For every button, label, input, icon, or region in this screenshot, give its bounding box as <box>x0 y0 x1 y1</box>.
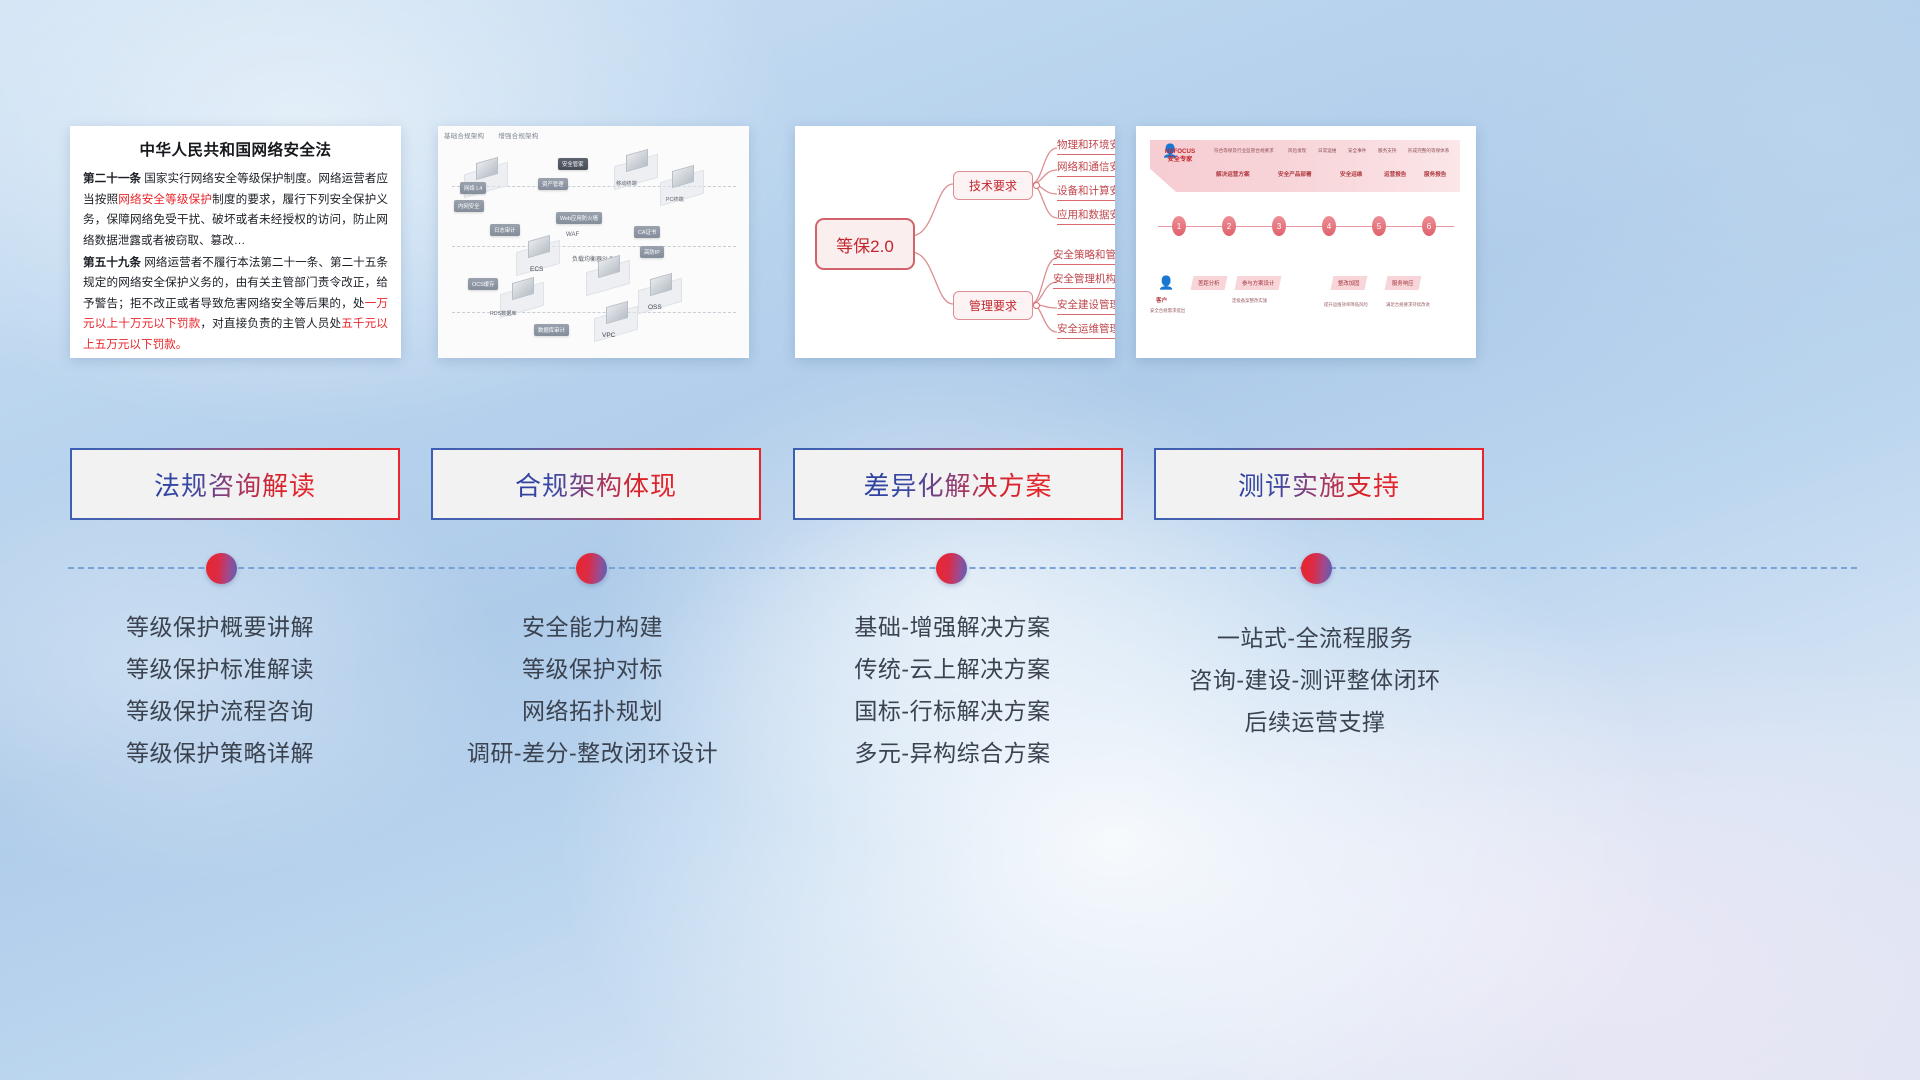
list-item: 多元-异构综合方案 <box>800 733 1105 775</box>
architecture-tab-basic: 基础合规架构 <box>444 133 484 140</box>
list-item: 基础-增强解决方案 <box>800 607 1105 649</box>
nsfocus-tag-3: 服务响应 <box>1385 276 1422 290</box>
nsfocus-logo: NSFOCUS 安全专家 <box>1156 148 1204 165</box>
law-document: 中华人民共和国网络安全法 第二十一条 国家实行网络安全等级保护制度。网络运营者应… <box>70 126 401 358</box>
mindmap-leaf-t2: 网络和通信安全 <box>1057 160 1115 177</box>
nsfocus-tag-label-0: 差距分析 <box>1198 279 1220 287</box>
arch-node-6: CA证书 <box>634 226 660 238</box>
law-article-59-text-b: ，对直接负责的主管人员处 <box>200 317 341 330</box>
timeline-dot-3[interactable] <box>936 553 967 584</box>
nsfocus-top-0: 符合等保及行业监管合规要求 <box>1214 148 1274 154</box>
nsfocus-step-3: 3 <box>1272 216 1286 236</box>
arch-node-9: 数据库审计 <box>534 324 569 336</box>
nsfocus-caption-1: 安全合规需求提出 <box>1150 308 1185 314</box>
header-label-1: 法规咨询解读 <box>154 466 316 503</box>
mindmap-branch-management: 管理要求 <box>953 291 1033 320</box>
header-box-compliance-architecture[interactable]: 合规架构体现 <box>431 448 761 520</box>
list-item: 等级保护标准解读 <box>70 649 370 691</box>
nsfocus-tag-2: 整改加固 <box>1331 276 1368 290</box>
mindmap-node-dot-1 <box>1033 182 1040 189</box>
arch-divider-2 <box>452 246 736 247</box>
arch-label-oss: OSS <box>648 304 662 311</box>
law-body: 第二十一条 国家实行网络安全等级保护制度。网络运营者应当按照网络安全等级保护制度… <box>83 169 388 356</box>
list-item: 等级保护流程咨询 <box>70 691 370 733</box>
mindmap-branch-technical: 技术要求 <box>953 171 1033 200</box>
timeline-dot-1[interactable] <box>206 553 237 584</box>
card-nsfocus-service-flow: 👤 NSFOCUS 安全专家 符合等保及行业监管合规要求 风险发现 日常运维 安… <box>1136 126 1476 358</box>
nsfocus-tag-1: 参与方案设计 <box>1235 276 1282 290</box>
nsfocus-tag-0: 差距分析 <box>1191 276 1228 290</box>
nsfocus-tag-label-3: 服务响应 <box>1392 279 1414 287</box>
nsfocus-caption-2: 定级备案整改实施 <box>1232 298 1267 304</box>
header-label-2: 合规架构体现 <box>515 466 677 503</box>
arch-node-5: Web应用防火墙 <box>556 212 602 224</box>
mindmap-leaf-t3: 设备和计算安全 <box>1057 184 1115 201</box>
card-cybersecurity-law: 中华人民共和国网络安全法 第二十一条 国家实行网络安全等级保护制度。网络运营者应… <box>70 126 401 358</box>
arch-node-7: 高防IP <box>640 246 664 258</box>
list-item: 咨询-建设-测评整体闭环 <box>1150 660 1480 702</box>
arch-label-mobile: 移动终端 <box>616 180 637 187</box>
arch-label-ecs: ECS <box>530 266 543 273</box>
arch-node-1: 内网安全 <box>454 200 484 212</box>
arch-node-3: 资产管理 <box>538 178 568 190</box>
mindmap-leaf-m2: 安全管理机构和人员 <box>1053 272 1115 289</box>
nsfocus-step-4: 4 <box>1322 216 1336 236</box>
nsfocus-tag-label-2: 整改加固 <box>1338 279 1360 287</box>
list-column-4: 一站式-全流程服务 咨询-建设-测评整体闭环 后续运营支撑 <box>1150 618 1480 744</box>
law-paragraph-21: 第二十一条 国家实行网络安全等级保护制度。网络运营者应当按照网络安全等级保护制度… <box>83 169 388 252</box>
arch-label-pc: PC终端 <box>666 196 684 203</box>
nsfocus-logo-line1: NSFOCUS <box>1165 148 1195 155</box>
timeline-dot-2[interactable] <box>576 553 607 584</box>
list-item: 调研-差分-整改闭环设计 <box>440 733 745 775</box>
mindmap-leaf-m3: 安全建设管理 <box>1057 298 1115 315</box>
arch-label-waf: WAF <box>566 232 579 238</box>
header-box-differentiated-solution[interactable]: 差异化解决方案 <box>793 448 1123 520</box>
arch-label-rds: RDS数据库 <box>490 310 517 317</box>
nsfocus-caption-customer: 客户 <box>1156 296 1167 304</box>
nsfocus-sub-2: 安全运维 <box>1340 170 1362 178</box>
nsfocus-sub-3: 运营报告 <box>1384 170 1406 178</box>
list-column-2: 安全能力构建 等级保护对标 网络拓扑规划 调研-差分-整改闭环设计 <box>440 607 745 774</box>
card-mindmap-dengbao: 等保2.0 技术要求 管理要求 物理和环境安全 网络和通信安全 设备和计算安全 … <box>795 126 1115 358</box>
nsfocus-logo-line2: 安全专家 <box>1168 156 1193 163</box>
arch-node-2: 安全管家 <box>558 158 588 170</box>
mindmap-root-node: 等保2.0 <box>815 218 915 270</box>
header-label-3: 差异化解决方案 <box>863 466 1052 503</box>
mindmap-node-dot-2 <box>1033 302 1040 309</box>
law-article-59-label: 第五十九条 <box>83 256 141 269</box>
nsfocus-sub-4: 服务报告 <box>1424 170 1446 178</box>
arch-node-8: OCS缓存 <box>468 278 498 290</box>
nsfocus-tag-label-1: 参与方案设计 <box>1242 279 1274 287</box>
list-item: 安全能力构建 <box>440 607 745 649</box>
architecture-tabs: 基础合规架构 增强合规架构 <box>444 130 550 140</box>
list-item: 传统-云上解决方案 <box>800 649 1105 691</box>
law-title: 中华人民共和国网络安全法 <box>83 138 388 160</box>
nsfocus-step-1: 1 <box>1172 216 1186 236</box>
architecture-diagram: 基础合规架构 增强合规架构 网络 L4 内网安全 安全管家 资产管理 移动终端 … <box>438 126 749 358</box>
law-article-21-label: 第二十一条 <box>83 172 141 185</box>
law-article-21-highlight: 网络安全等级保护 <box>118 193 212 206</box>
arch-label-vpc: VPC <box>602 332 615 339</box>
nsfocus-step-2: 2 <box>1222 216 1236 236</box>
nsfocus-caption-3: 提升运维效率降低风险 <box>1324 302 1368 308</box>
nsfocus-top-3: 安全事件 <box>1348 148 1366 154</box>
nsfocus-diagram: 👤 NSFOCUS 安全专家 符合等保及行业监管合规要求 风险发现 日常运维 安… <box>1136 126 1476 358</box>
header-box-regulation-consulting[interactable]: 法规咨询解读 <box>70 448 400 520</box>
list-item: 等级保护对标 <box>440 649 745 691</box>
list-item: 等级保护策略详解 <box>70 733 370 775</box>
list-column-1: 等级保护概要讲解 等级保护标准解读 等级保护流程咨询 等级保护策略详解 <box>70 607 370 774</box>
nsfocus-sub-1: 安全产品部署 <box>1278 170 1312 178</box>
arch-node-0: 网络 L4 <box>460 182 486 194</box>
nsfocus-timeline-axis <box>1158 226 1454 227</box>
nsfocus-step-5: 5 <box>1372 216 1386 236</box>
mindmap-leaf-m4: 安全运维管理 <box>1057 322 1115 339</box>
arch-node-4: 日志审计 <box>490 224 520 236</box>
mindmap: 等保2.0 技术要求 管理要求 物理和环境安全 网络和通信安全 设备和计算安全 … <box>795 126 1115 358</box>
nsfocus-caption-4: 满足合规要求持续改进 <box>1386 302 1430 308</box>
header-label-4: 测评实施支持 <box>1238 466 1400 503</box>
nsfocus-top-5: 形成完整的等保体系 <box>1408 148 1449 154</box>
mindmap-leaf-t4: 应用和数据安全 <box>1057 208 1115 225</box>
list-item: 国标-行标解决方案 <box>800 691 1105 733</box>
architecture-tab-enhanced: 增强合规架构 <box>498 133 538 140</box>
list-item: 一站式-全流程服务 <box>1150 618 1480 660</box>
list-item: 后续运营支撑 <box>1150 702 1480 744</box>
nsfocus-top-2: 日常运维 <box>1318 148 1336 154</box>
nsfocus-sub-0: 解决运营方案 <box>1216 170 1250 178</box>
mindmap-leaf-m1: 安全策略和管理制度 <box>1053 248 1115 265</box>
law-paragraph-59: 第五十九条 网络运营者不履行本法第二十一条、第二十五条规定的网络安全保护义务的，… <box>83 253 388 356</box>
nsfocus-top-4: 服务支持 <box>1378 148 1396 154</box>
header-box-assessment-support[interactable]: 测评实施支持 <box>1154 448 1484 520</box>
card-compliance-architecture: 基础合规架构 增强合规架构 网络 L4 内网安全 安全管家 资产管理 移动终端 … <box>438 126 749 358</box>
list-column-3: 基础-增强解决方案 传统-云上解决方案 国标-行标解决方案 多元-异构综合方案 <box>800 607 1105 774</box>
timeline-dot-4[interactable] <box>1301 553 1332 584</box>
list-item: 网络拓扑规划 <box>440 691 745 733</box>
nsfocus-step-6: 6 <box>1422 216 1436 236</box>
nsfocus-top-1: 风险发现 <box>1288 148 1306 154</box>
mindmap-leaf-t1: 物理和环境安全 <box>1057 138 1115 155</box>
customer-avatar-icon: 👤 <box>1158 276 1174 289</box>
list-item: 等级保护概要讲解 <box>70 607 370 649</box>
